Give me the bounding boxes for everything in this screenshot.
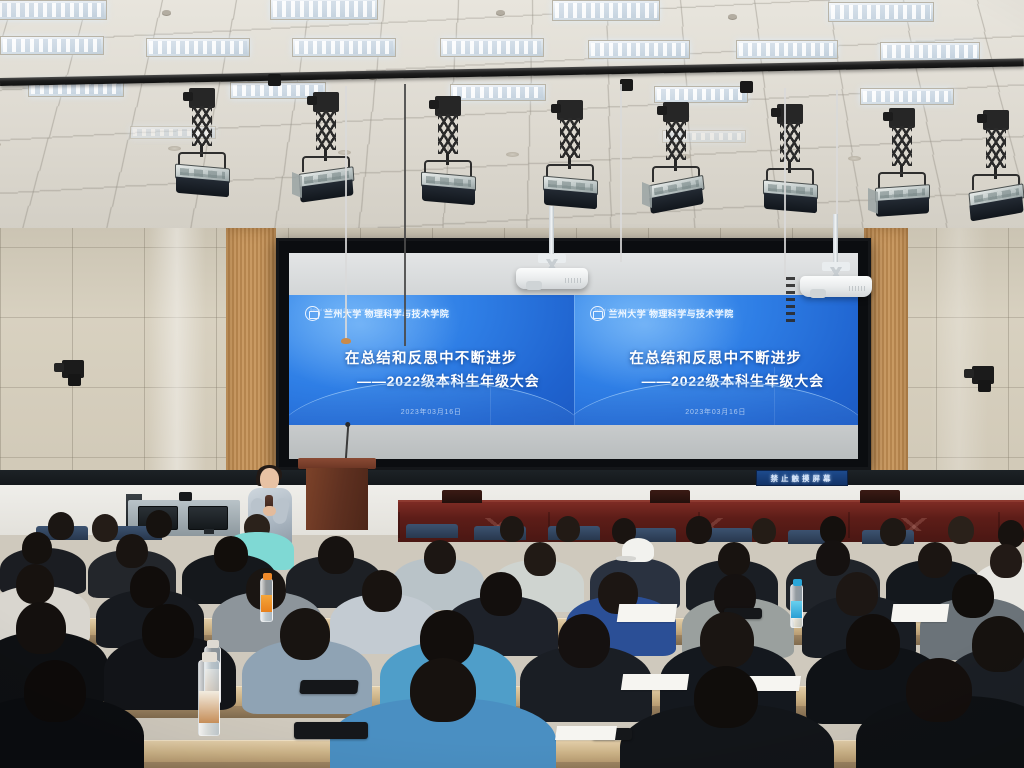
ceiling-light-panel <box>0 36 104 55</box>
bottle-label <box>199 691 219 723</box>
ceiling-light-panel <box>146 38 250 57</box>
paper-handout <box>891 604 950 622</box>
audience-seating <box>0 500 1024 768</box>
ceiling-light-panel <box>828 2 934 22</box>
light-yoke <box>313 92 339 112</box>
slide-title: 在总结和反思中不断进步 <box>289 347 574 368</box>
bottle-cap <box>202 652 217 662</box>
water-bottle <box>790 584 803 628</box>
audience-head <box>214 536 248 572</box>
audience-head <box>952 574 994 618</box>
hanging-cable <box>345 86 347 344</box>
truss-clamp <box>620 79 633 91</box>
recessed-downlight-icon <box>848 156 861 161</box>
scissor-lift-mount <box>892 126 912 166</box>
bottle-label <box>261 595 272 612</box>
presenter-head <box>260 468 279 490</box>
bottle-cap <box>793 579 802 586</box>
audience-head <box>16 564 54 604</box>
barn-door <box>642 182 652 208</box>
audience-head <box>990 544 1022 578</box>
ceiling-light-panel <box>440 38 544 57</box>
audience-head <box>752 518 776 544</box>
audience-head <box>318 536 354 574</box>
screen-lower-blank-area <box>289 425 858 459</box>
audience-head <box>948 516 974 544</box>
seat-back <box>406 524 458 538</box>
projector-lens-icon <box>810 289 826 298</box>
audience-head <box>500 516 524 542</box>
wall-camera-right <box>972 366 994 384</box>
ceiling-light-panel <box>0 0 107 20</box>
light-yoke <box>777 104 803 124</box>
audience-head <box>424 540 456 574</box>
scissor-lift-mount <box>192 106 212 146</box>
barn-door <box>868 188 878 214</box>
slide-title: 在总结和反思中不断进步 <box>574 347 859 368</box>
light-yoke <box>189 88 215 108</box>
audience-head <box>556 516 580 542</box>
audience-head <box>524 542 556 576</box>
hanging-cable <box>620 84 622 262</box>
warning-sign-text: 禁止触摸屏幕 <box>771 473 834 484</box>
ceiling-light-panel <box>552 0 660 21</box>
light-yoke <box>435 96 461 116</box>
scissor-lift-mount <box>560 118 580 158</box>
projector-lens-icon <box>526 281 542 290</box>
smoke-detector-icon <box>496 10 505 15</box>
ceiling-light-panel <box>880 42 980 61</box>
water-bottle <box>198 660 220 736</box>
audience-head <box>22 532 52 564</box>
lecture-hall-photo: 兰州大学 物理科学与技术学院 School of Physical Scienc… <box>0 0 1024 768</box>
ceiling-light-panel <box>588 40 690 59</box>
slide-pane-right: 兰州大学 物理科学与技术学院 School of Physical Scienc… <box>574 295 859 443</box>
hanging-cable <box>784 88 786 280</box>
light-yoke <box>557 100 583 120</box>
hanging-microphone-icon <box>341 338 351 344</box>
audience-head <box>130 566 170 608</box>
light-yoke <box>663 102 689 122</box>
paper-handout <box>555 726 617 740</box>
projected-image-area: 兰州大学 物理科学与技术学院 School of Physical Scienc… <box>289 295 858 443</box>
barn-door <box>292 172 302 198</box>
scissor-lift-mount <box>666 120 686 160</box>
smartphone-on-desk <box>299 680 358 694</box>
scissor-lift-mount <box>438 114 458 154</box>
audience-head <box>146 510 172 538</box>
ceiling-light-panel <box>450 84 546 101</box>
wall-camera-left <box>62 360 84 378</box>
projector-body <box>516 268 588 289</box>
hanging-cable <box>404 84 406 346</box>
ceiling-light-panel <box>292 38 396 57</box>
audience-head <box>836 572 878 616</box>
audience-head <box>718 542 750 576</box>
ceiling-light-panel <box>270 0 378 20</box>
audience-head <box>694 666 758 728</box>
ceiling-light-panel <box>654 86 748 103</box>
truss-clamp <box>268 74 281 86</box>
audience-head <box>24 660 86 722</box>
audience-head <box>816 540 850 576</box>
logo-text-en: School of Physical Science and Technolog… <box>595 308 706 312</box>
recessed-downlight-icon <box>168 146 181 151</box>
audience-head <box>280 608 330 660</box>
smoke-detector-icon <box>162 10 171 15</box>
audience-cap <box>622 538 654 562</box>
scissor-lift-mount <box>780 122 800 162</box>
audience-head <box>362 570 402 612</box>
audience-head <box>700 612 754 668</box>
smoke-detector-icon <box>728 14 737 19</box>
paper-handout <box>621 674 689 690</box>
ceiling-light-panel <box>860 88 954 105</box>
audience-head <box>92 514 118 542</box>
bottle-cap <box>263 573 272 580</box>
scissor-lift-mount <box>316 110 336 150</box>
smartphone-on-desk <box>294 722 368 739</box>
recessed-downlight-icon <box>506 152 519 157</box>
projector-vent <box>849 286 865 291</box>
audience-head <box>686 516 712 544</box>
audience-head <box>918 542 952 578</box>
audience-head <box>410 658 476 722</box>
ceiling-light-panel <box>736 40 838 59</box>
light-yoke <box>983 110 1009 130</box>
audience-head <box>16 602 66 654</box>
audience-head <box>48 512 74 540</box>
bottle-label <box>791 601 802 618</box>
audience-head <box>972 616 1024 672</box>
audience-head <box>142 604 194 658</box>
light-yoke <box>889 108 915 128</box>
water-bottle <box>260 578 273 622</box>
audience-head <box>846 614 900 670</box>
projector-body <box>800 276 872 297</box>
scissor-lift-mount <box>986 128 1006 168</box>
coiled-cable <box>786 276 795 322</box>
audience-head <box>880 518 906 546</box>
bottle-cap <box>207 640 219 648</box>
audience-head <box>906 658 972 722</box>
slide-pane-left: 兰州大学 物理科学与技术学院 School of Physical Scienc… <box>289 295 574 443</box>
audience-head <box>480 572 522 616</box>
audience-head <box>558 614 610 668</box>
paper-handout <box>617 604 678 622</box>
projector-vent <box>565 278 581 283</box>
truss-clamp <box>740 81 753 93</box>
audience-head <box>116 534 148 568</box>
warning-sign: 禁止触摸屏幕 <box>756 470 848 486</box>
